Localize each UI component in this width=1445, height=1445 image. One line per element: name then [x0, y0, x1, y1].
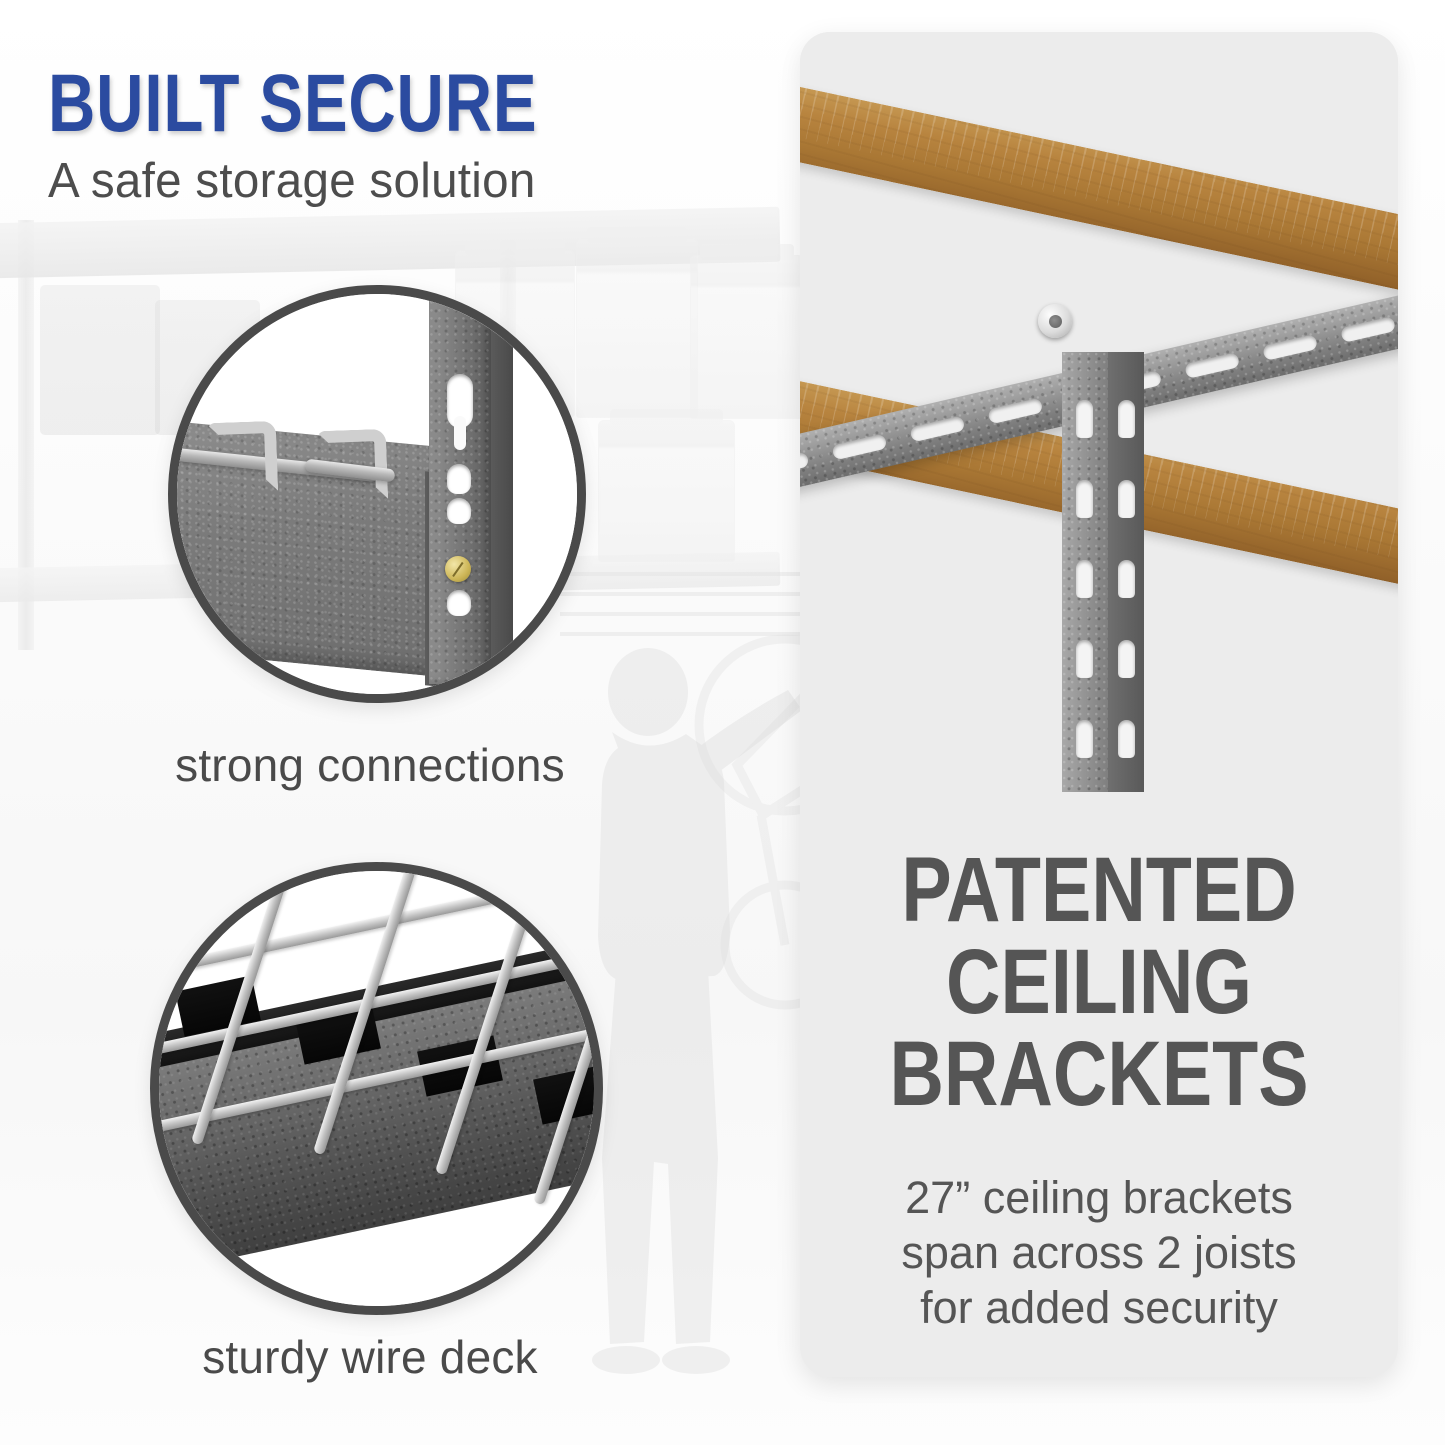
callout-caption-strong-connections: strong connections: [90, 738, 650, 792]
panel-description-line-2: span across 2 joists: [800, 1225, 1398, 1280]
rail-keyhole-4: [1076, 640, 1093, 678]
upright-rail-face: [491, 294, 513, 694]
bracket-slot-2: [831, 434, 887, 461]
panel-heading: PATENTED CEILING BRACKETS: [800, 844, 1398, 1120]
callout-circle-strong-connections: [168, 285, 586, 703]
callout-image-strong-connections: [177, 294, 577, 694]
panel-description-line-3: for added security: [800, 1280, 1398, 1335]
mounting-screw: [445, 556, 471, 582]
storage-bin-4: [598, 420, 735, 562]
joist-grain-top: [800, 72, 1398, 298]
support-rod-hook-left: [206, 421, 278, 493]
rail-keyhole-2: [1076, 480, 1093, 518]
bracket-slot-6: [1184, 352, 1240, 379]
keyhole-slot-3: [447, 498, 471, 524]
rail-face-keyhole-1: [1118, 400, 1135, 438]
panel-description: 27” ceiling brackets span across 2 joist…: [800, 1170, 1398, 1335]
infographic-canvas: BUILT SECURE A safe storage solution str…: [0, 0, 1445, 1445]
page-title: BUILT SECURE: [48, 62, 537, 146]
rail-face-keyhole-4: [1118, 640, 1135, 678]
rail-keyhole-1: [1076, 400, 1093, 438]
bracket-slot-1: [800, 452, 809, 479]
panel-heading-line-3: BRACKETS: [854, 1028, 1344, 1120]
wire-shelf-background: [560, 560, 800, 640]
rail-face-keyhole-5: [1118, 720, 1135, 758]
callout-circle-sturdy-wire-deck: [150, 862, 603, 1315]
panel-product-photo: [800, 32, 1398, 792]
bracket-slot-4: [987, 398, 1043, 425]
rail-face-keyhole-3: [1118, 560, 1135, 598]
callout-image-sturdy-wire-deck: [159, 871, 594, 1306]
storage-bin-dark-1: [40, 285, 160, 435]
panel-heading-line-2: CEILING: [854, 936, 1344, 1028]
bracket-slot-8: [1340, 316, 1396, 343]
storage-bin-3: [690, 255, 804, 419]
callout-caption-sturdy-wire-deck: sturdy wire deck: [110, 1330, 630, 1384]
rail-keyhole-3: [1076, 560, 1093, 598]
keyhole-slot-2: [447, 464, 471, 494]
patented-brackets-panel: PATENTED CEILING BRACKETS 27” ceiling br…: [800, 32, 1398, 1377]
storage-bin-2: [576, 238, 698, 418]
bracket-slot-3: [909, 416, 965, 443]
page-subtitle: A safe storage solution: [48, 154, 641, 208]
hanging-rail-face: [1108, 352, 1144, 792]
panel-description-line-1: 27” ceiling brackets: [800, 1170, 1398, 1225]
panel-heading-line-1: PATENTED: [854, 844, 1344, 936]
headline-block: BUILT SECURE A safe storage solution: [48, 62, 660, 208]
bracket-mounting-bolt: [1038, 304, 1072, 338]
rail-keyhole-5: [1076, 720, 1093, 758]
hanging-rail-upright: [1062, 352, 1108, 792]
ceiling-joist-top: [800, 72, 1398, 298]
keyhole-stem-1: [454, 416, 466, 450]
rail-face-keyhole-2: [1118, 480, 1135, 518]
keyhole-slot-4: [447, 590, 471, 616]
bracket-slot-7: [1262, 334, 1318, 361]
